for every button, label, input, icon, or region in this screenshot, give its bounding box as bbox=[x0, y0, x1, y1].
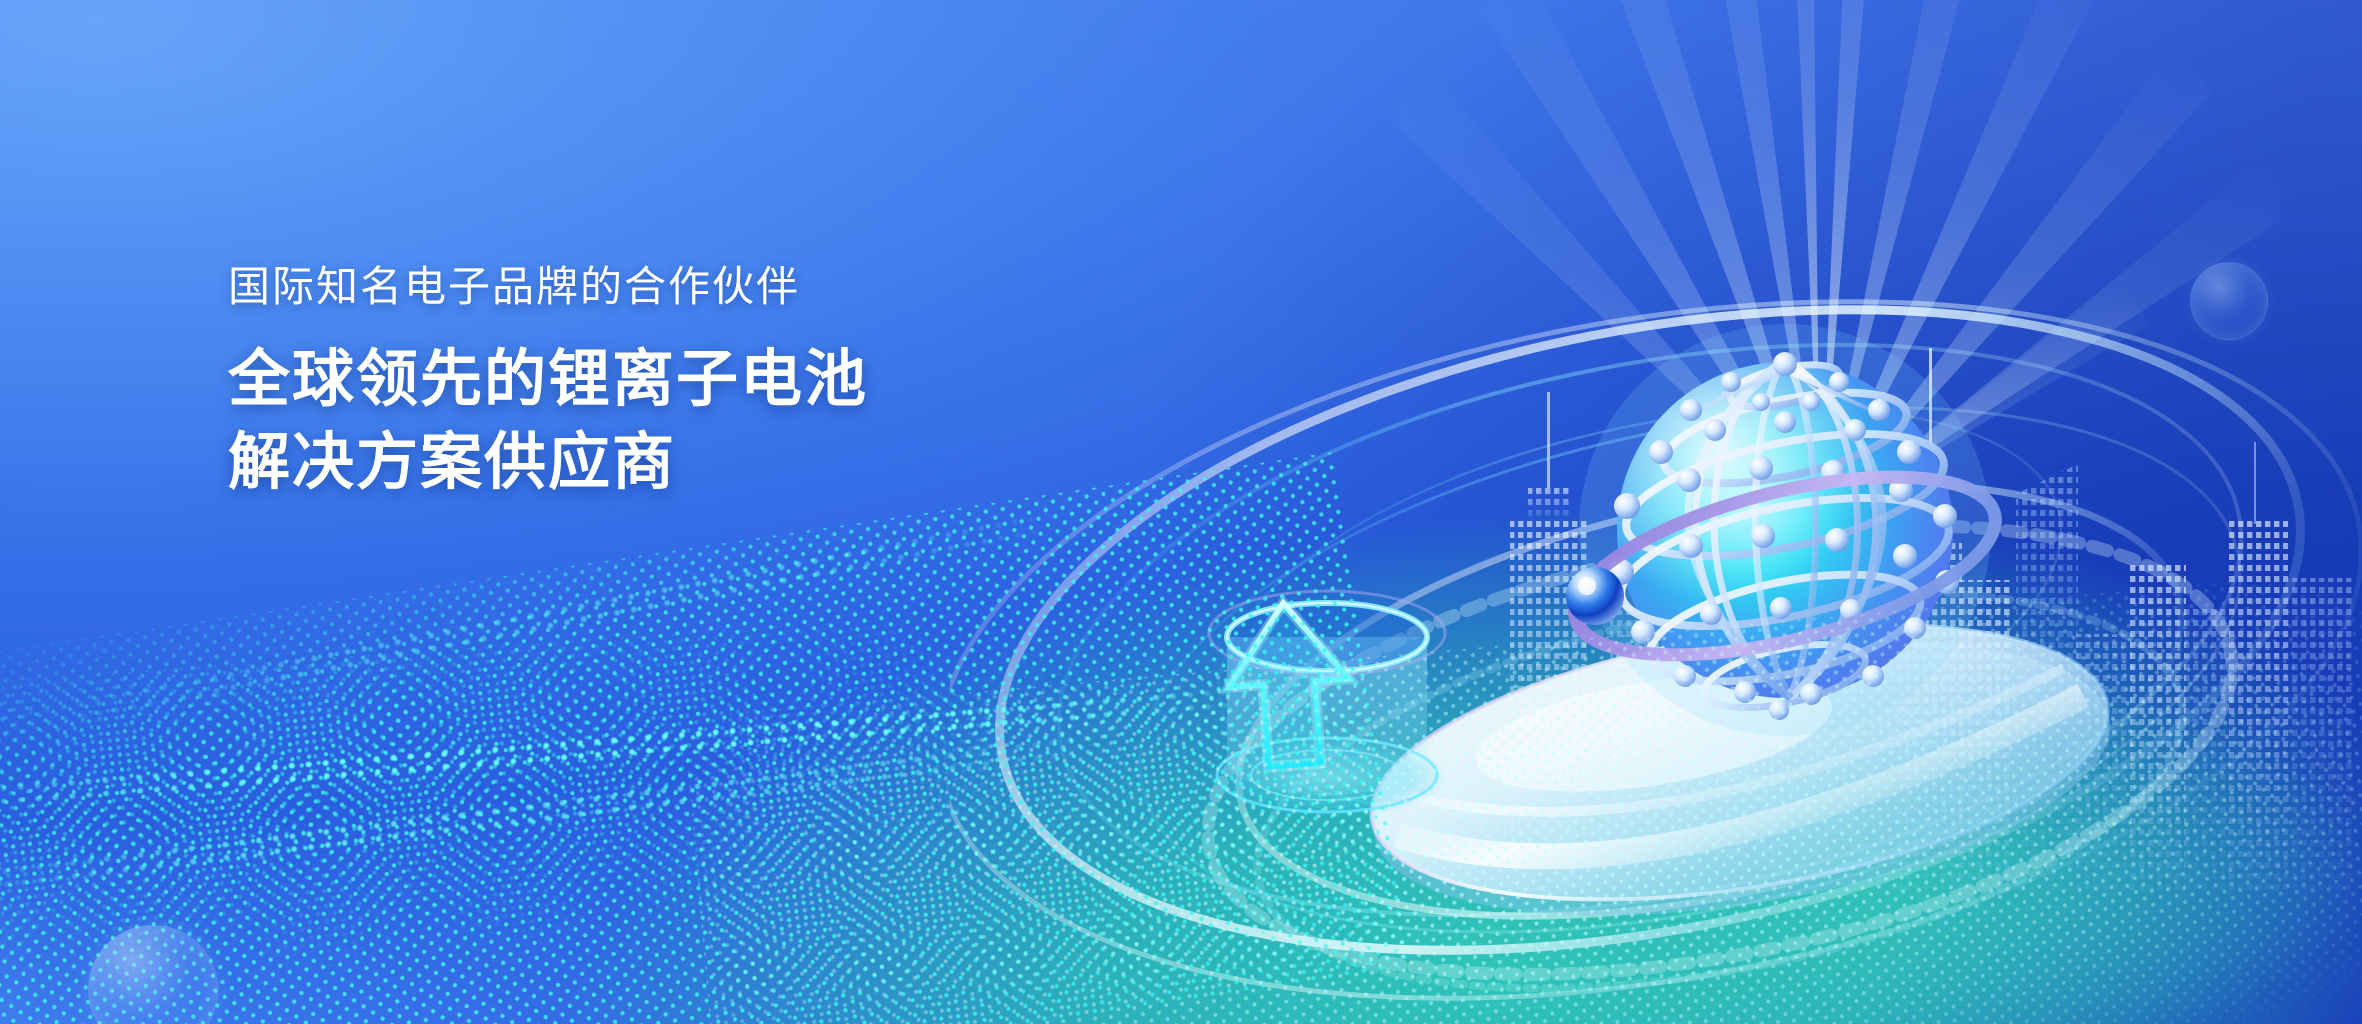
headline-line-2: 解决方案供应商 bbox=[228, 421, 868, 504]
background-right-wash bbox=[0, 0, 2362, 1024]
wireframe-mesh-globe-icon bbox=[1565, 310, 2005, 750]
glossy-elliptical-platform-icon bbox=[1330, 600, 2150, 930]
wave-crest-line bbox=[0, 505, 1072, 740]
radiating-light-beams-icon bbox=[1380, 0, 2280, 620]
eyebrow-text: 国际知名电子品牌的合作伙伴 bbox=[228, 262, 868, 312]
headline-line-1: 全球领先的锂离子电池 bbox=[228, 338, 868, 421]
translucent-bubble-icon bbox=[88, 925, 218, 1024]
wave-crest-line bbox=[0, 730, 1107, 896]
pixel-city-skyline-icon bbox=[1482, 334, 2362, 894]
translucent-bubble-icon bbox=[2190, 262, 2268, 340]
cyan-dot-matrix-wave bbox=[0, 452, 1410, 1024]
page-title: 全球领先的锂离子电池 解决方案供应商 bbox=[228, 338, 868, 504]
hero-banner: 国际知名电子品牌的合作伙伴 全球领先的锂离子电池 解决方案供应商 bbox=[0, 0, 2362, 1024]
glowing-upward-arrow-portal-icon bbox=[1175, 565, 1475, 825]
cyan-dot-matrix-wave-secondary bbox=[0, 595, 1253, 1024]
teal-gradient-field-secondary bbox=[1250, 700, 2362, 1024]
hero-copy-block: 国际知名电子品牌的合作伙伴 全球领先的锂离子电池 解决方案供应商 bbox=[228, 262, 868, 505]
wave-crest-line bbox=[0, 685, 1239, 811]
concentric-hud-arcs-icon bbox=[950, 230, 2362, 1024]
teal-dot-matrix-ground bbox=[683, 565, 2362, 1024]
